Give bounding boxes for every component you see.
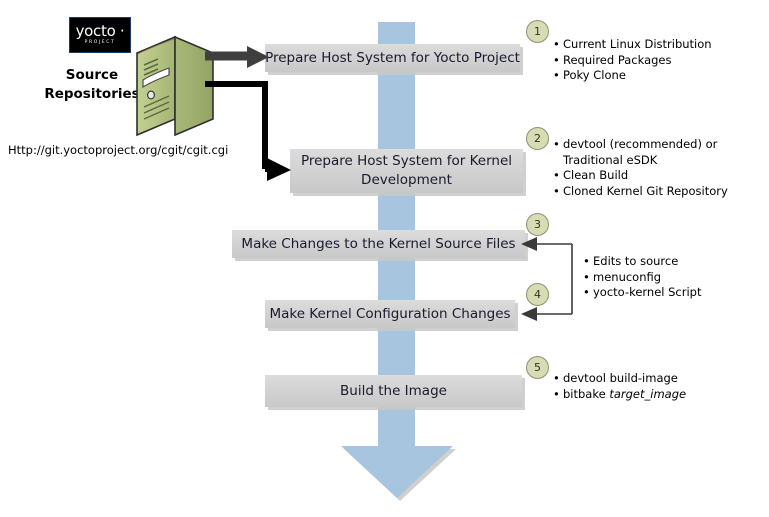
list-item: Cloned Kernel Git Repository bbox=[563, 184, 761, 200]
step-5-box[interactable]: Build the Image bbox=[265, 375, 522, 407]
list-item: Clean Build bbox=[563, 168, 761, 184]
step-2-label-line2: Development bbox=[361, 172, 452, 188]
step-1-label: Prepare Host System for Yocto Project bbox=[265, 49, 520, 68]
step-5-number-badge: 5 bbox=[526, 356, 549, 379]
connector-server-to-step2 bbox=[205, 78, 295, 183]
step-2-box[interactable]: Prepare Host System for Kernel Developme… bbox=[290, 149, 523, 193]
step-5-label: Build the Image bbox=[340, 382, 447, 401]
source-repositories-url: Http://git.yoctoproject.org/cgit/cgit.cg… bbox=[8, 143, 228, 157]
step-4-box[interactable]: Make Kernel Configuration Changes bbox=[265, 300, 515, 328]
bitbake-command: bitbake bbox=[563, 387, 609, 401]
step-3-label: Make Changes to the Kernel Source Files bbox=[241, 235, 515, 254]
main-flow-arrow-head bbox=[341, 446, 453, 498]
step-5-bullets: devtool build-image bitbake target_image bbox=[551, 371, 761, 402]
step-3-4-shared-bullets: Edits to source menuconfig yocto-kernel … bbox=[581, 254, 761, 301]
connector-server-to-step1 bbox=[205, 44, 275, 74]
step-3-number-badge: 3 bbox=[526, 213, 549, 236]
logo-wordmark: yocto · bbox=[70, 18, 130, 40]
list-item: Current Linux Distribution bbox=[563, 37, 761, 53]
step-2-label: Prepare Host System for Kernel Developme… bbox=[301, 152, 512, 190]
step-1-number: 1 bbox=[534, 25, 541, 38]
list-item: Required Packages bbox=[563, 53, 761, 69]
connector-step3-step4-bracket bbox=[520, 234, 582, 324]
list-item: bitbake target_image bbox=[563, 387, 761, 403]
step-2-label-line1: Prepare Host System for Kernel bbox=[301, 153, 512, 169]
step-4-number: 4 bbox=[534, 288, 541, 301]
step-1-bullets: Current Linux Distribution Required Pack… bbox=[551, 37, 761, 84]
yocto-project-logo: yocto · PROJECT bbox=[69, 17, 131, 53]
step-3-box[interactable]: Make Changes to the Kernel Source Files bbox=[232, 230, 525, 258]
step-4-number-badge: 4 bbox=[526, 283, 549, 306]
step-2-number: 2 bbox=[534, 132, 541, 145]
step-1-number-badge: 1 bbox=[526, 20, 549, 43]
list-item: menuconfig bbox=[593, 270, 761, 286]
list-item: devtool build-image bbox=[563, 371, 761, 387]
list-item: Poky Clone bbox=[563, 68, 761, 84]
step-5-number: 5 bbox=[534, 361, 541, 374]
step-2-bullets: devtool (recommended) or Traditional eSD… bbox=[551, 137, 761, 199]
step-1-box[interactable]: Prepare Host System for Yocto Project bbox=[265, 44, 520, 72]
step-4-label: Make Kernel Configuration Changes bbox=[269, 305, 510, 324]
list-item: yocto-kernel Script bbox=[593, 285, 761, 301]
diagram-canvas: yocto · PROJECT Source Repositories Http… bbox=[0, 0, 769, 517]
bitbake-target-arg: target_image bbox=[609, 387, 686, 401]
step-2-number-badge: 2 bbox=[526, 127, 549, 150]
list-item: devtool (recommended) or Traditional eSD… bbox=[563, 137, 761, 168]
logo-subtitle: PROJECT bbox=[70, 40, 130, 46]
step-3-number: 3 bbox=[534, 218, 541, 231]
list-item: Edits to source bbox=[593, 254, 761, 270]
